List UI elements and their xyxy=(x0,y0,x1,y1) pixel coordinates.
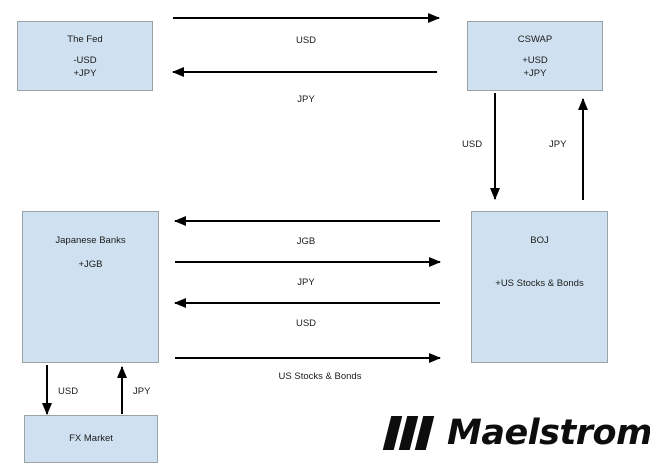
arrow-boj-to-jbanks-usd xyxy=(175,297,440,309)
arrow-boj-to-jbanks-jgb xyxy=(175,215,440,227)
node-cswap-line-2: +JPY xyxy=(522,68,548,80)
edge-label-cswap-to-fed: JPY xyxy=(297,94,314,105)
edge-label-jbanks-to-boj-securities: US Stocks & Bonds xyxy=(279,371,362,382)
node-japanese-banks-line-1: +JGB xyxy=(78,259,102,271)
arrow-fed-to-cswap-shaft xyxy=(173,17,439,19)
arrow-jbanks-to-boj-securities xyxy=(175,352,440,364)
node-boj-details: +US Stocks & Bonds xyxy=(495,278,583,290)
arrow-cswap-to-fed xyxy=(173,66,437,78)
arrow-jbanks-to-fx xyxy=(41,365,53,414)
arrow-cswap-to-boj-shaft xyxy=(494,93,496,199)
edge-label-jbanks-to-fx: USD xyxy=(58,386,78,397)
edge-label-boj-to-cswap: JPY xyxy=(549,139,566,150)
node-japanese-banks-title: Japanese Banks xyxy=(55,235,125,246)
node-boj-title: BOJ xyxy=(530,235,548,246)
edge-label-fx-to-jbanks: JPY xyxy=(133,386,150,397)
arrowhead-down-icon xyxy=(42,403,52,415)
arrow-cswap-to-fed-shaft xyxy=(173,71,437,73)
arrow-fx-to-jbanks xyxy=(116,367,128,414)
node-cswap-title: CSWAP xyxy=(518,34,552,45)
arrow-jbanks-to-boj-securities-shaft xyxy=(175,357,440,359)
node-fx-market[interactable]: FX Market xyxy=(24,415,158,463)
node-fx-market-title: FX Market xyxy=(69,433,113,444)
diagram-canvas: The Fed -USD +JPY CSWAP +USD +JPY Japane… xyxy=(0,0,650,475)
arrowhead-left-icon xyxy=(172,67,184,77)
node-the-fed-details: -USD +JPY xyxy=(73,55,96,80)
arrowhead-right-icon xyxy=(429,257,441,267)
arrowhead-right-icon xyxy=(428,13,440,23)
arrow-jbanks-to-boj-jpy xyxy=(175,256,440,268)
arrowhead-right-icon xyxy=(429,353,441,363)
node-the-fed[interactable]: The Fed -USD +JPY xyxy=(17,21,153,91)
arrowhead-left-icon xyxy=(174,298,186,308)
arrowhead-up-icon xyxy=(117,366,127,378)
maelstrom-wordmark: Maelstrom xyxy=(447,416,650,451)
edge-label-boj-to-jbanks-jgb: JGB xyxy=(297,236,315,247)
arrow-boj-to-cswap-shaft xyxy=(582,99,584,200)
arrowhead-left-icon xyxy=(174,216,186,226)
node-japanese-banks[interactable]: Japanese Banks +JGB xyxy=(22,211,159,363)
node-cswap[interactable]: CSWAP +USD +JPY xyxy=(467,21,603,91)
edge-label-cswap-to-boj: USD xyxy=(462,139,482,150)
arrow-fed-to-cswap xyxy=(173,12,439,24)
node-japanese-banks-details: +JGB xyxy=(78,259,102,271)
arrow-cswap-to-boj xyxy=(489,93,501,199)
node-boj[interactable]: BOJ +US Stocks & Bonds xyxy=(471,211,608,363)
node-boj-line-1: +US Stocks & Bonds xyxy=(495,278,583,290)
edge-label-boj-to-jbanks-usd: USD xyxy=(296,318,316,329)
arrow-jbanks-to-boj-jpy-shaft xyxy=(175,261,440,263)
edge-label-fed-to-cswap: USD xyxy=(296,35,316,46)
arrow-boj-to-jbanks-usd-shaft xyxy=(175,302,440,304)
node-cswap-line-1: +USD xyxy=(522,55,548,67)
arrow-boj-to-cswap xyxy=(577,99,589,200)
node-the-fed-line-1: -USD xyxy=(73,55,96,67)
node-the-fed-line-2: +JPY xyxy=(73,68,96,80)
node-cswap-details: +USD +JPY xyxy=(522,55,548,80)
edge-label-jbanks-to-boj-jpy: JPY xyxy=(297,277,314,288)
node-the-fed-title: The Fed xyxy=(67,34,102,45)
maelstrom-logo: Maelstrom xyxy=(387,410,650,456)
maelstrom-bar-3 xyxy=(415,416,434,450)
arrowhead-up-icon xyxy=(578,98,588,110)
maelstrom-bars-icon xyxy=(387,416,435,450)
arrowhead-down-icon xyxy=(490,188,500,200)
arrow-boj-to-jbanks-jgb-shaft xyxy=(175,220,440,222)
